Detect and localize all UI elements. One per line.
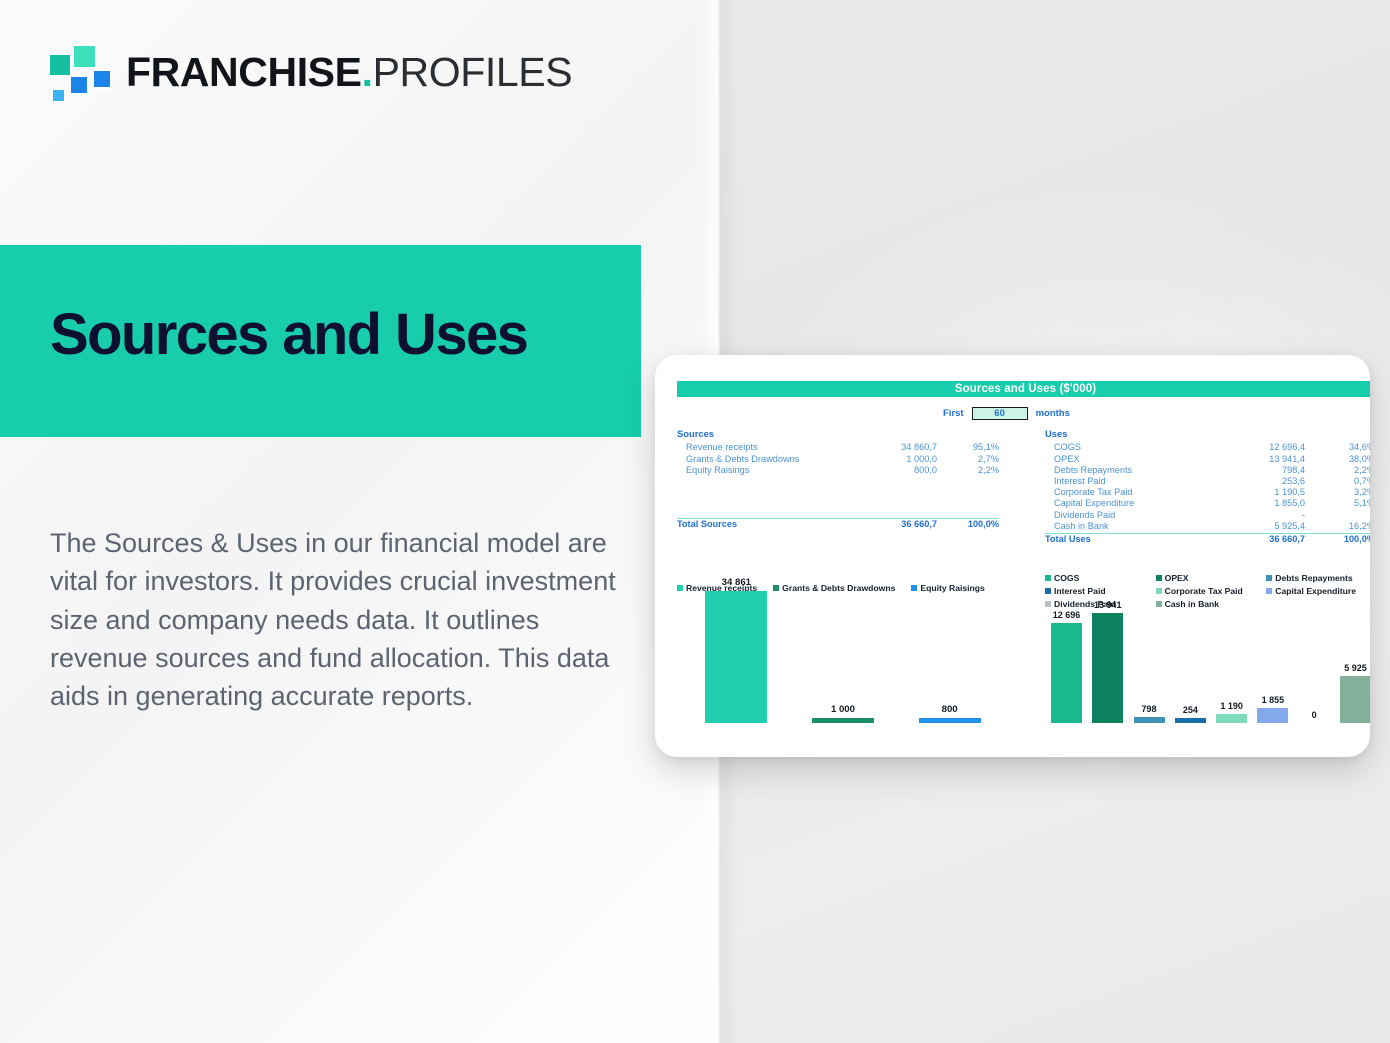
row-label: OPEX (1045, 455, 1227, 464)
period-months-input[interactable]: 60 (972, 407, 1028, 420)
table-row: COGS12 696,434,6% (1045, 443, 1370, 454)
bar-column: 254 (1175, 571, 1206, 723)
row-value: 5 925,4 (1227, 522, 1305, 531)
bar (919, 718, 981, 723)
bar-column: 12 696 (1051, 571, 1082, 723)
logo-squares-icon (48, 44, 110, 100)
bar-column: 800 (919, 558, 981, 723)
bar-column: 0 (1299, 571, 1330, 723)
bar-column: 34 861 (705, 558, 767, 723)
table-row: Equity Raisings800,02,2% (677, 466, 999, 477)
spreadsheet-sheet: Sources and Uses ($'000) First 60 months… (667, 381, 1358, 741)
table-row: Cash in Bank5 925,416,2% (1045, 522, 1370, 533)
uses-header: Uses (1045, 429, 1370, 438)
sources-total-value: 36 660,7 (859, 520, 937, 529)
row-pct: - (1305, 511, 1370, 520)
bar-value-label: 798 (1142, 704, 1157, 714)
uses-rows: COGS12 696,434,6%OPEX13 941,438,0%Debts … (1045, 443, 1370, 533)
bar-value-label: 5 925 (1344, 663, 1367, 673)
row-value: 34 860,7 (859, 443, 937, 452)
row-pct: 34,6% (1305, 443, 1370, 452)
row-label: COGS (1045, 443, 1227, 452)
sheet-title-bar: Sources and Uses ($'000) (677, 381, 1370, 397)
bar-column: 1 190 (1216, 571, 1247, 723)
brand-name-light: PROFILES (373, 49, 573, 95)
sources-rows: Revenue receipts34 860,795,1%Grants & De… (677, 443, 999, 477)
bar (1134, 717, 1165, 723)
row-pct: 2,2% (1305, 466, 1370, 475)
bar-value-label: 1 855 (1262, 695, 1285, 705)
bar-column: 1 855 (1257, 571, 1288, 723)
sources-total-pct: 100,0% (937, 520, 999, 529)
row-label: Equity Raisings (677, 466, 859, 475)
row-value: 12 696,4 (1227, 443, 1305, 452)
row-label: Capital Expenditure (1045, 499, 1227, 508)
period-suffix-label: months (1036, 408, 1070, 419)
row-value: 1 190,5 (1227, 488, 1305, 497)
uses-total-label: Total Uses (1045, 535, 1227, 544)
uses-total-row: Total Uses 36 660,7 100,0% (1045, 533, 1370, 545)
bar-value-label: 12 696 (1053, 610, 1081, 620)
row-pct: 3,2% (1305, 488, 1370, 497)
period-prefix-label: First (943, 408, 964, 419)
brand-logo: FRANCHISE.PROFILES (48, 44, 572, 100)
row-label: Grants & Debts Drawdowns (677, 455, 859, 464)
bar-column: 1 000 (812, 558, 874, 723)
row-pct: 2,7% (937, 455, 999, 464)
bar-value-label: 1 190 (1220, 701, 1243, 711)
row-label: Corporate Tax Paid (1045, 488, 1227, 497)
brand-name-dot: . (362, 49, 373, 95)
row-value: - (1227, 511, 1305, 520)
sources-header: Sources (677, 429, 999, 438)
background-left-panel (0, 0, 719, 1043)
row-value: 13 941,4 (1227, 455, 1305, 464)
bar (1175, 718, 1206, 723)
row-value: 1 855,0 (1227, 499, 1305, 508)
row-value: 800,0 (859, 466, 937, 475)
sources-total-row: Total Sources 36 660,7 100,0% (677, 518, 999, 530)
table-row: Capital Expenditure1 855,05,1% (1045, 499, 1370, 510)
bar-column: 13 941 (1092, 571, 1123, 723)
row-value: 1 000,0 (859, 455, 937, 464)
brand-wordmark: FRANCHISE.PROFILES (126, 52, 572, 93)
bar-value-label: 13 941 (1094, 600, 1122, 610)
uses-total-pct: 100,0% (1305, 535, 1370, 544)
sources-total-label: Total Sources (677, 520, 859, 529)
row-pct: 16,2% (1305, 522, 1370, 531)
bar (1092, 613, 1123, 723)
description-paragraph: The Sources & Uses in our financial mode… (50, 524, 625, 716)
row-label: Revenue receipts (677, 443, 859, 452)
bar (1340, 676, 1370, 723)
bar-column: 5 925 (1340, 571, 1370, 723)
row-label: Dividends Paid (1045, 511, 1227, 520)
bar-value-label: 0 (1312, 710, 1317, 720)
row-pct: 95,1% (937, 443, 999, 452)
page-title: Sources and Uses (50, 305, 527, 366)
row-label: Debts Repayments (1045, 466, 1227, 475)
brand-name-bold: FRANCHISE (126, 49, 362, 95)
sources-table: Sources Revenue receipts34 860,795,1%Gra… (677, 429, 999, 530)
bar-value-label: 34 861 (722, 577, 751, 588)
uses-total-value: 36 660,7 (1227, 535, 1305, 544)
slide-canvas: FRANCHISE.PROFILES Sources and Uses The … (0, 0, 1390, 1043)
uses-bar-chart: 12 69613 9417982541 1901 85505 925 (1045, 571, 1370, 723)
bar (705, 591, 767, 723)
row-value: 253,6 (1227, 477, 1305, 486)
row-pct: 2,2% (937, 466, 999, 475)
bar (1051, 623, 1082, 723)
row-pct: 0,7% (1305, 477, 1370, 486)
row-value: 798,4 (1227, 466, 1305, 475)
bar-value-label: 1 000 (831, 704, 855, 715)
bar (1216, 714, 1247, 723)
period-selector[interactable]: First 60 months (943, 407, 1070, 420)
bar (812, 718, 874, 723)
bar (1257, 708, 1288, 723)
bar-value-label: 800 (942, 704, 958, 715)
table-row: Revenue receipts34 860,795,1% (677, 443, 999, 454)
row-label: Cash in Bank (1045, 522, 1227, 531)
spreadsheet-card: Sources and Uses ($'000) First 60 months… (655, 355, 1370, 757)
row-pct: 5,1% (1305, 499, 1370, 508)
bar-value-label: 254 (1183, 705, 1198, 715)
uses-table: Uses COGS12 696,434,6%OPEX13 941,438,0%D… (1045, 429, 1370, 545)
sources-bar-chart: 34 8611 000800 (683, 558, 1003, 723)
bar-column: 798 (1134, 571, 1165, 723)
row-label: Interest Paid (1045, 477, 1227, 486)
row-pct: 38,0% (1305, 455, 1370, 464)
